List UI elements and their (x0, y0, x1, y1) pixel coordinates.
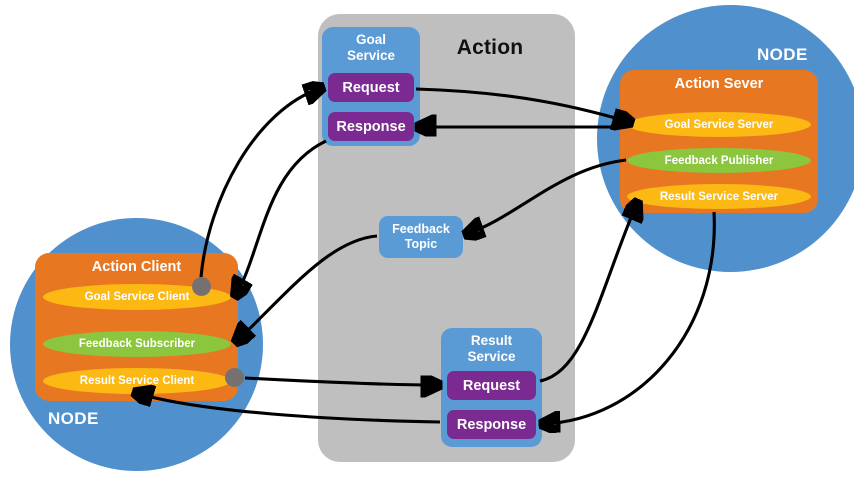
feedback-topic-line2: Topic (405, 237, 437, 252)
feedback-topic-box: Feedback Topic (379, 216, 463, 258)
result-service-title-line2: Service (441, 349, 542, 365)
result-service-response: Response (447, 410, 536, 439)
pill-result-service-client: Result Service Client (43, 368, 231, 394)
result-service-title: Result Service (441, 333, 542, 365)
action-client-title: Action Client (35, 259, 238, 275)
dot-result-service-client (225, 368, 244, 387)
node-label-client: NODE (48, 409, 99, 429)
action-panel-title: Action (430, 36, 550, 60)
action-server-title: Action Sever (620, 76, 818, 92)
goal-service-request: Request (328, 73, 414, 102)
pill-feedback-subscriber: Feedback Subscriber (43, 331, 231, 357)
result-service-request: Request (447, 371, 536, 400)
result-service-title-line1: Result (441, 333, 542, 349)
feedback-topic-line1: Feedback (392, 222, 450, 237)
goal-service-title-line2: Service (322, 48, 420, 64)
diagram-canvas: Action NODE Action Client Goal Service C… (0, 0, 854, 480)
dot-goal-service-client (192, 277, 211, 296)
node-label-server: NODE (757, 45, 808, 65)
arrow-response-to-goal-service-client (236, 141, 326, 295)
pill-goal-service-server: Goal Service Server (627, 112, 811, 137)
goal-service-title-line1: Goal (322, 32, 420, 48)
pill-feedback-publisher: Feedback Publisher (627, 148, 811, 173)
goal-service-title: Goal Service (322, 32, 420, 64)
pill-result-service-server: Result Service Server (627, 184, 811, 209)
goal-service-response: Response (328, 112, 414, 141)
